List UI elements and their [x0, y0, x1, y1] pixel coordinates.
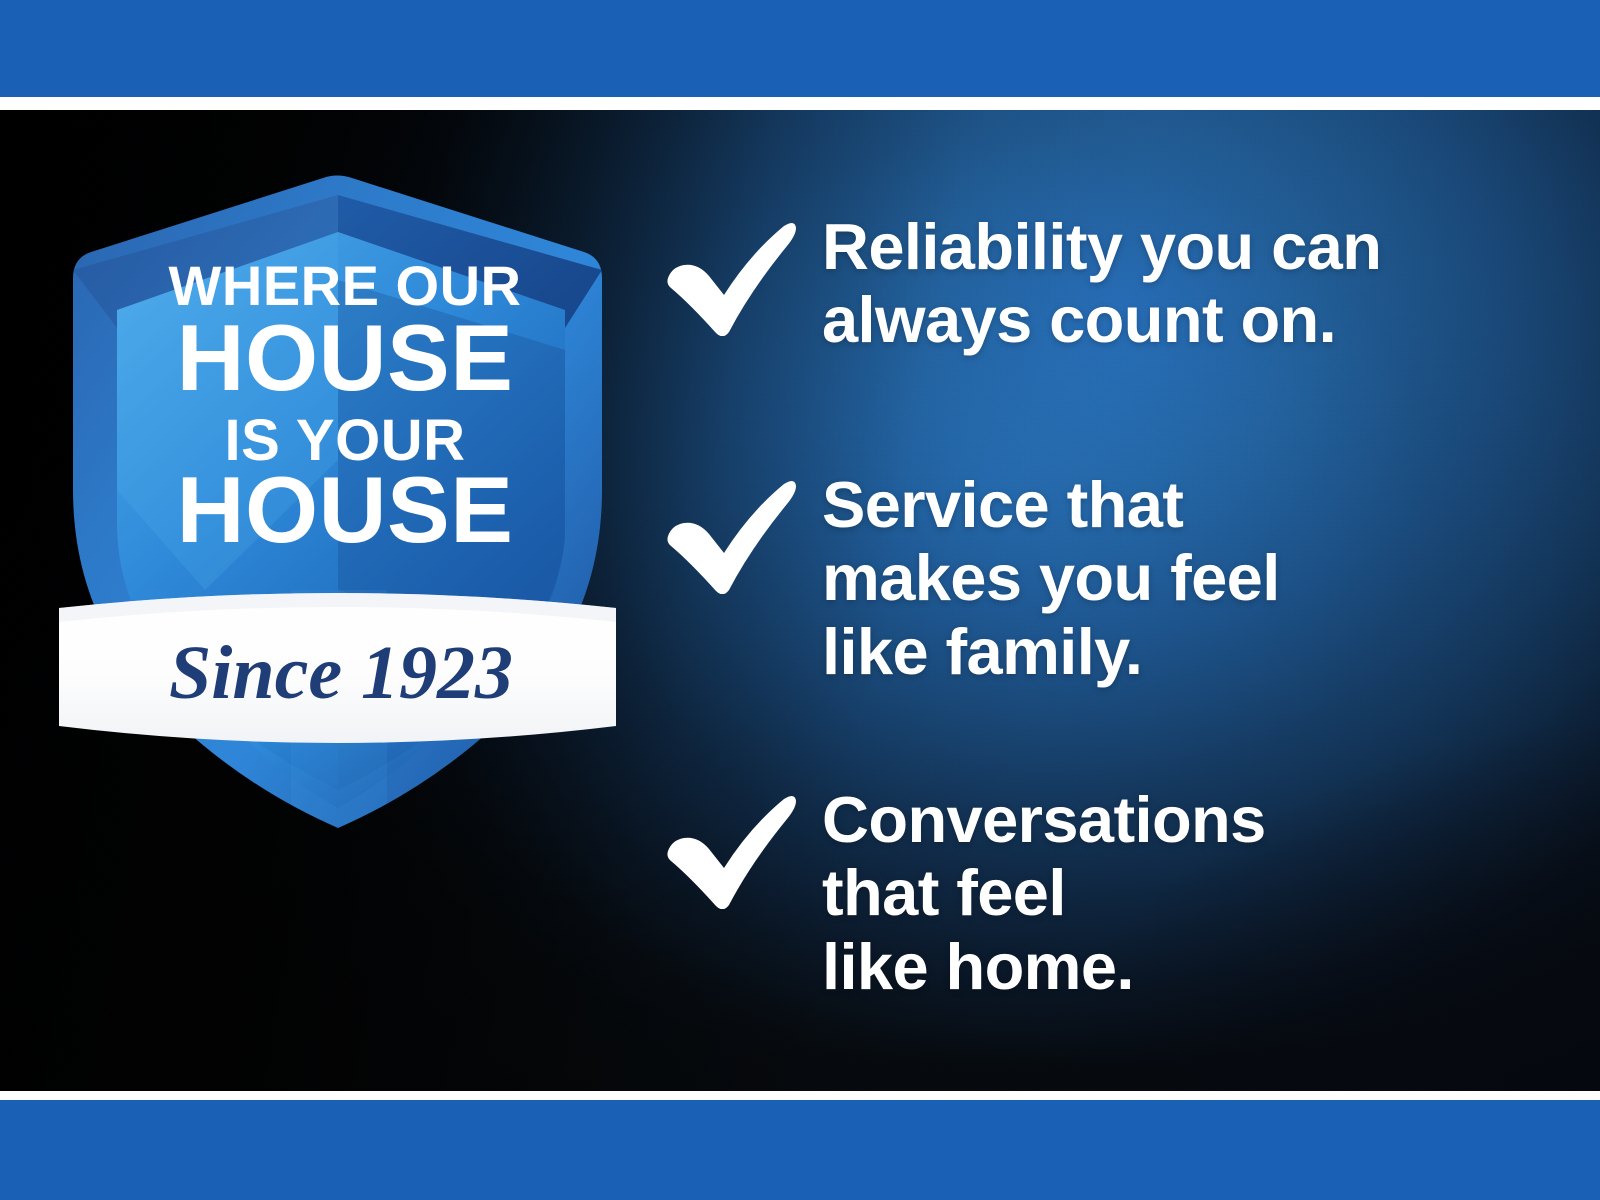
checkmark-icon — [662, 789, 798, 909]
shield-line-2: HOUSE — [177, 305, 514, 410]
benefit-text: Reliability you can always count on. — [822, 210, 1381, 357]
benefit-item: Conversations that feel like home. — [662, 783, 1266, 1003]
benefit-text: Service that makes you feel like family. — [822, 468, 1280, 688]
benefit-text: Conversations that feel like home. — [822, 783, 1266, 1003]
checkmark-icon — [662, 216, 798, 336]
benefit-item: Service that makes you feel like family. — [662, 468, 1280, 688]
checkmark-icon — [662, 474, 798, 594]
promo-poster: WHERE OUR HOUSE IS YOUR HOUSE Since 1923… — [0, 0, 1600, 1200]
benefits-list: Reliability you can always count on. Ser… — [662, 110, 1492, 1091]
bottom-brand-band — [0, 1100, 1600, 1200]
top-brand-band — [0, 0, 1600, 97]
benefit-item: Reliability you can always count on. — [662, 210, 1381, 357]
shield-banner-text: Since 1923 — [169, 631, 513, 715]
shield-line-4: HOUSE — [177, 457, 514, 562]
shield-logo: WHERE OUR HOUSE IS YOUR HOUSE Since 1923 — [55, 160, 620, 840]
